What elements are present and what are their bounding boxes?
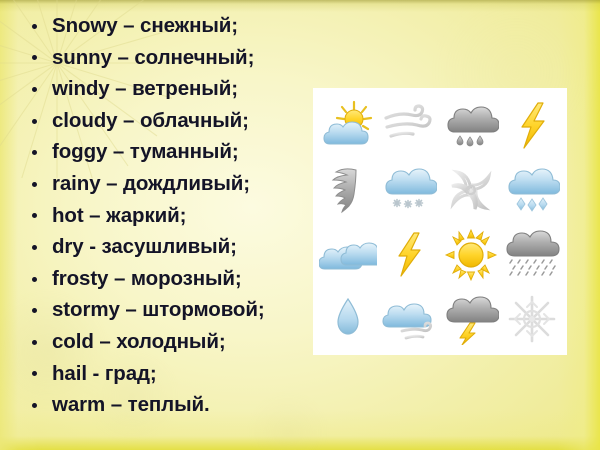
list-item: dry - засушливый;: [26, 231, 316, 263]
heavy-rain-cloud-icon: [502, 223, 564, 287]
wind-swirl-icon: [379, 94, 441, 158]
weather-vocabulary-list: Snowy – снежный; sunny – солнечный; wind…: [26, 10, 316, 421]
list-item-text: stormy – штормовой;: [52, 298, 265, 321]
bullet-icon: [32, 403, 37, 408]
list-item-text: dry - засушливый;: [52, 235, 237, 258]
list-item-text: foggy – туманный;: [52, 140, 239, 163]
rain-cloud-icon: [440, 94, 502, 158]
list-item: sunny – солнечный;: [26, 42, 316, 74]
thunderstorm-cloud-icon: [440, 287, 502, 351]
bullet-icon: [32, 55, 37, 60]
lightning-bolt-icon: [502, 94, 564, 158]
sun-behind-cloud-icon: [317, 94, 379, 158]
tornado-icon: [317, 158, 379, 222]
list-item: warm – теплый.: [26, 389, 316, 421]
list-item-text: cold – холодный;: [52, 330, 226, 353]
double-cloud-icon: [317, 223, 379, 287]
slide-canvas: Snowy – снежный; sunny – солнечный; wind…: [0, 0, 600, 450]
list-item-text: cloudy – облачный;: [52, 109, 249, 132]
list-item: hot – жаркий;: [26, 200, 316, 232]
list-item: hail - град;: [26, 358, 316, 390]
list-item: frosty – морозный;: [26, 263, 316, 295]
bullet-icon: [32, 371, 37, 376]
bullet-icon: [32, 213, 37, 218]
bullet-icon: [32, 182, 37, 187]
list-item-text: rainy – дождливый;: [52, 172, 250, 195]
list-item: stormy – штормовой;: [26, 294, 316, 326]
list-item-text: sunny – солнечный;: [52, 46, 254, 69]
bullet-icon: [32, 308, 37, 313]
list-item-text: hail - град;: [52, 362, 157, 385]
hurricane-swirl-icon: [440, 158, 502, 222]
snowflake-icon: [502, 287, 564, 351]
bullet-icon: [32, 340, 37, 345]
list-item: Snowy – снежный;: [26, 10, 316, 42]
bullet-icon: [32, 87, 37, 92]
bullet-icon: [32, 277, 37, 282]
list-item-text: Snowy – снежный;: [52, 14, 238, 37]
bullet-icon: [32, 24, 37, 29]
list-item: foggy – туманный;: [26, 136, 316, 168]
sun-icon: [440, 223, 502, 287]
list-item: windy – ветреный;: [26, 73, 316, 105]
water-drop-icon: [317, 287, 379, 351]
list-item: cold – холодный;: [26, 326, 316, 358]
weather-icon-panel: [313, 88, 567, 355]
weather-icon-grid: [317, 94, 563, 351]
list-item-text: warm – теплый.: [52, 393, 210, 416]
snow-cloud-icon: [379, 158, 441, 222]
windy-cloud-icon: [379, 287, 441, 351]
hail-cloud-icon: [502, 158, 564, 222]
bullet-icon: [32, 245, 37, 250]
bullet-icon: [32, 150, 37, 155]
bullet-icon: [32, 119, 37, 124]
list-item-text: hot – жаркий;: [52, 204, 186, 227]
list-item: cloudy – облачный;: [26, 105, 316, 137]
list-item: rainy – дождливый;: [26, 168, 316, 200]
list-item-text: frosty – морозный;: [52, 267, 242, 290]
lightning-bolt-icon: [379, 223, 441, 287]
list-item-text: windy – ветреный;: [52, 77, 238, 100]
